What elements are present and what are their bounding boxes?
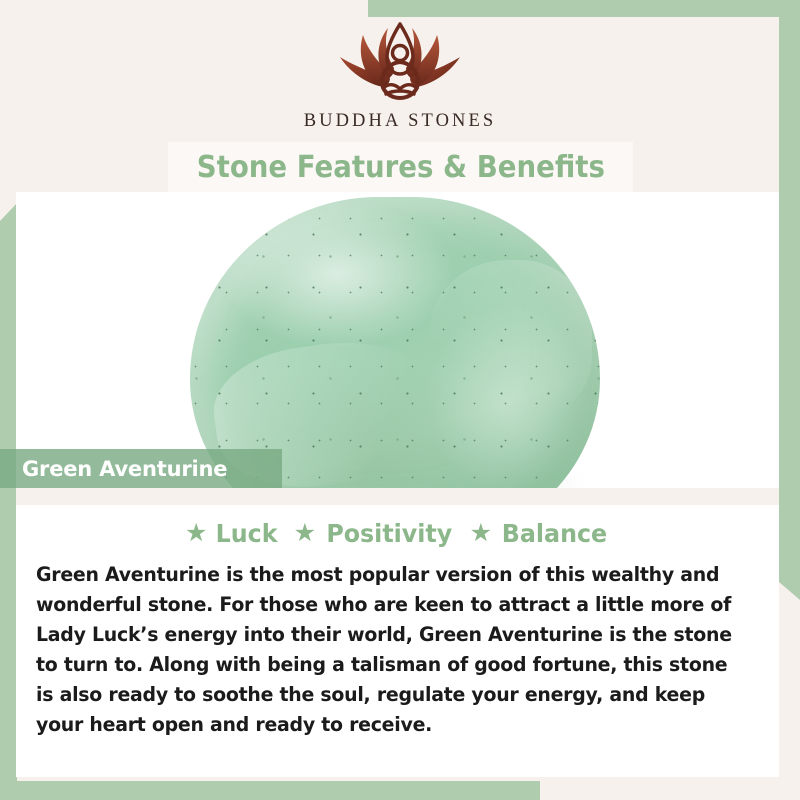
benefits-list: ★ Luck ★ Positivity ★ Balance	[16, 519, 779, 548]
stone-name: Green Aventurine	[22, 457, 227, 481]
frame-band-bottom-left	[0, 781, 540, 800]
star-icon: ★	[294, 521, 316, 546]
benefit-label: Luck	[216, 519, 278, 548]
stone-description-panel: ★ Luck ★ Positivity ★ Balance Green Aven…	[16, 505, 779, 777]
lotus-meditation-icon	[315, 20, 485, 106]
benefit-item-luck: ★ Luck	[185, 519, 280, 548]
frame-band-left	[0, 203, 17, 781]
title-banner: Stone Features & Benefits	[168, 142, 633, 192]
star-icon: ★	[185, 521, 207, 546]
page-title: Stone Features & Benefits	[196, 150, 604, 185]
stone-image-panel	[16, 192, 779, 488]
brand-logo: BUDDHA STONES	[0, 20, 800, 140]
stone-image	[190, 197, 600, 488]
star-icon: ★	[470, 521, 492, 546]
benefit-item-balance: ★ Balance	[470, 519, 610, 548]
benefit-label: Positivity	[326, 519, 452, 548]
frame-band-top-right	[368, 0, 800, 17]
stone-name-bar: Green Aventurine	[0, 449, 282, 488]
stone-speckles	[190, 197, 600, 488]
section-divider	[16, 488, 779, 505]
stone-description-text: Green Aventurine is the most popular ver…	[36, 560, 748, 740]
brand-name: BUDDHA STONES	[304, 111, 497, 132]
stone-features-poster: BUDDHA STONES Stone Features & Benefits …	[0, 0, 800, 800]
benefit-label: Balance	[502, 519, 607, 548]
benefit-item-positivity: ★ Positivity	[294, 519, 456, 548]
